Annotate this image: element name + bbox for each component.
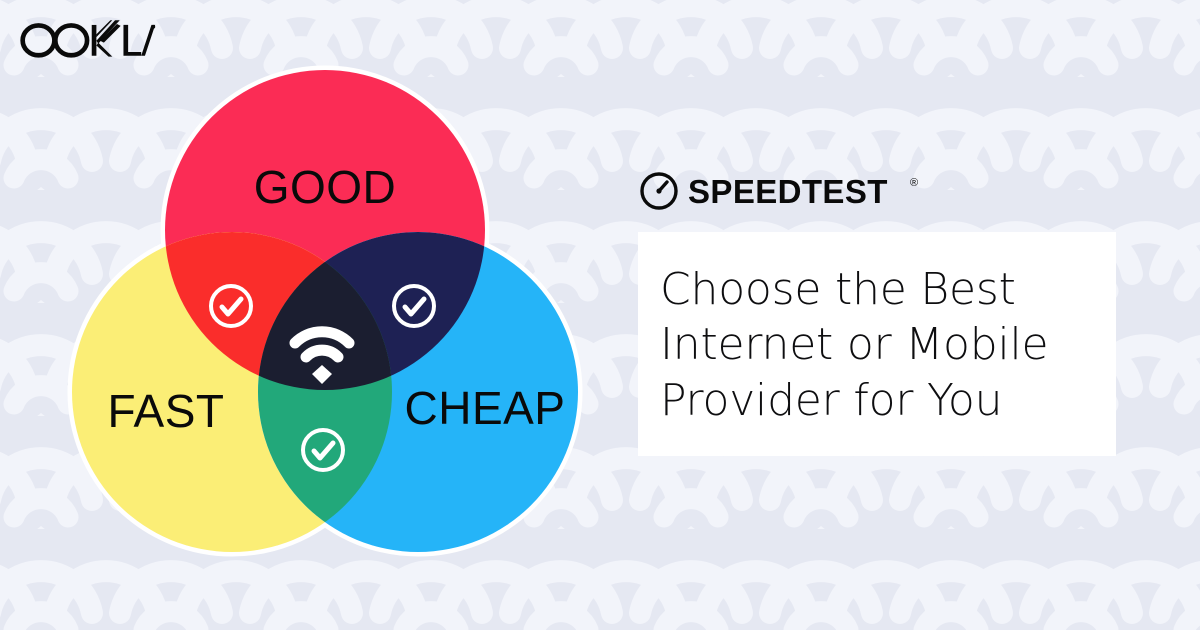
speedtest-logo[interactable]: SPEEDTEST ® (638, 170, 928, 212)
page-title: Choose the Best Internet or Mobile Provi… (660, 262, 1092, 428)
headline-line-3: Provider for You (660, 373, 1092, 428)
venn-label-good: GOOD (254, 161, 397, 213)
speedtest-trademark: ® (910, 177, 918, 189)
promo-banner: OOKLA (0, 0, 1200, 630)
headline-line-1: Choose the Best (660, 262, 1092, 317)
venn-label-cheap: CHEAP (405, 382, 566, 434)
venn-diagram: GOOD FAST CHEAP (48, 60, 608, 580)
right-column: SPEEDTEST ® Choose the Best Internet or … (638, 170, 1118, 456)
speedtest-logo-text: SPEEDTEST (688, 173, 888, 210)
headline-card: Choose the Best Internet or Mobile Provi… (638, 232, 1116, 456)
headline-line-2: Internet or Mobile (660, 317, 1092, 372)
venn-label-fast: FAST (107, 385, 224, 437)
ookla-logo[interactable]: OOKLA (18, 16, 158, 60)
speedometer-icon (642, 174, 676, 208)
